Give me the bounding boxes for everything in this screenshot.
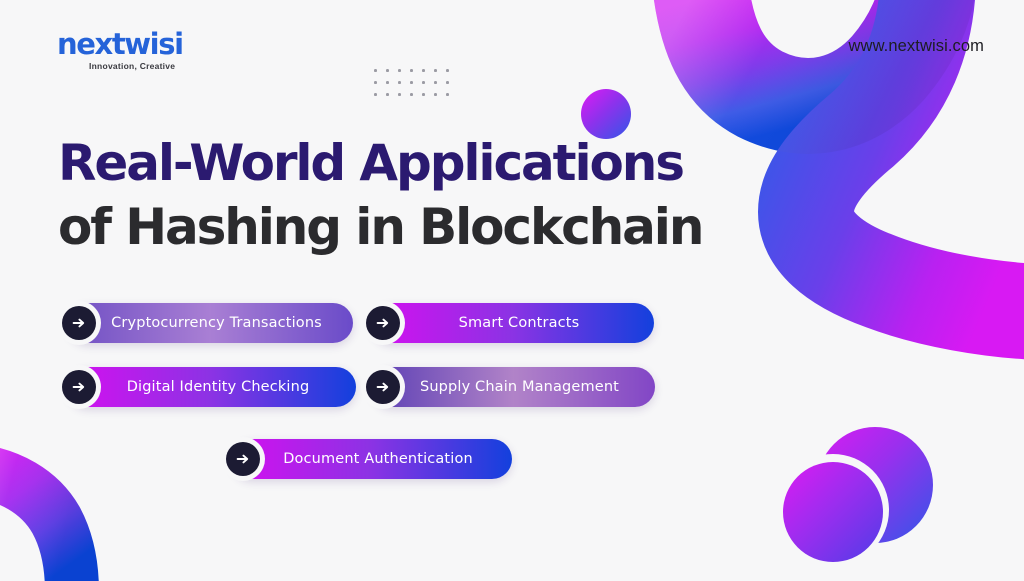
list-item-label: Supply Chain Management bbox=[372, 380, 655, 395]
arrow-right-icon[interactable] bbox=[57, 365, 101, 409]
application-list: Cryptocurrency Transactions Smart Contra… bbox=[0, 0, 1024, 581]
list-item-label: Document Authentication bbox=[232, 452, 512, 467]
arrow-right-icon[interactable] bbox=[361, 365, 405, 409]
arrow-right-icon[interactable] bbox=[221, 437, 265, 481]
list-item[interactable]: Supply Chain Management bbox=[372, 367, 655, 407]
list-item-label: Digital Identity Checking bbox=[68, 380, 356, 395]
list-item[interactable]: Cryptocurrency Transactions bbox=[68, 303, 353, 343]
slide-canvas: nextwisi Innovation, Creative www.nextwi… bbox=[0, 0, 1024, 581]
list-item[interactable]: Document Authentication bbox=[232, 439, 512, 479]
list-item-label: Smart Contracts bbox=[372, 316, 654, 331]
arrow-right-icon[interactable] bbox=[361, 301, 405, 345]
arrow-right-icon[interactable] bbox=[57, 301, 101, 345]
list-item-label: Cryptocurrency Transactions bbox=[68, 316, 353, 331]
list-item[interactable]: Digital Identity Checking bbox=[68, 367, 356, 407]
list-item[interactable]: Smart Contracts bbox=[372, 303, 654, 343]
